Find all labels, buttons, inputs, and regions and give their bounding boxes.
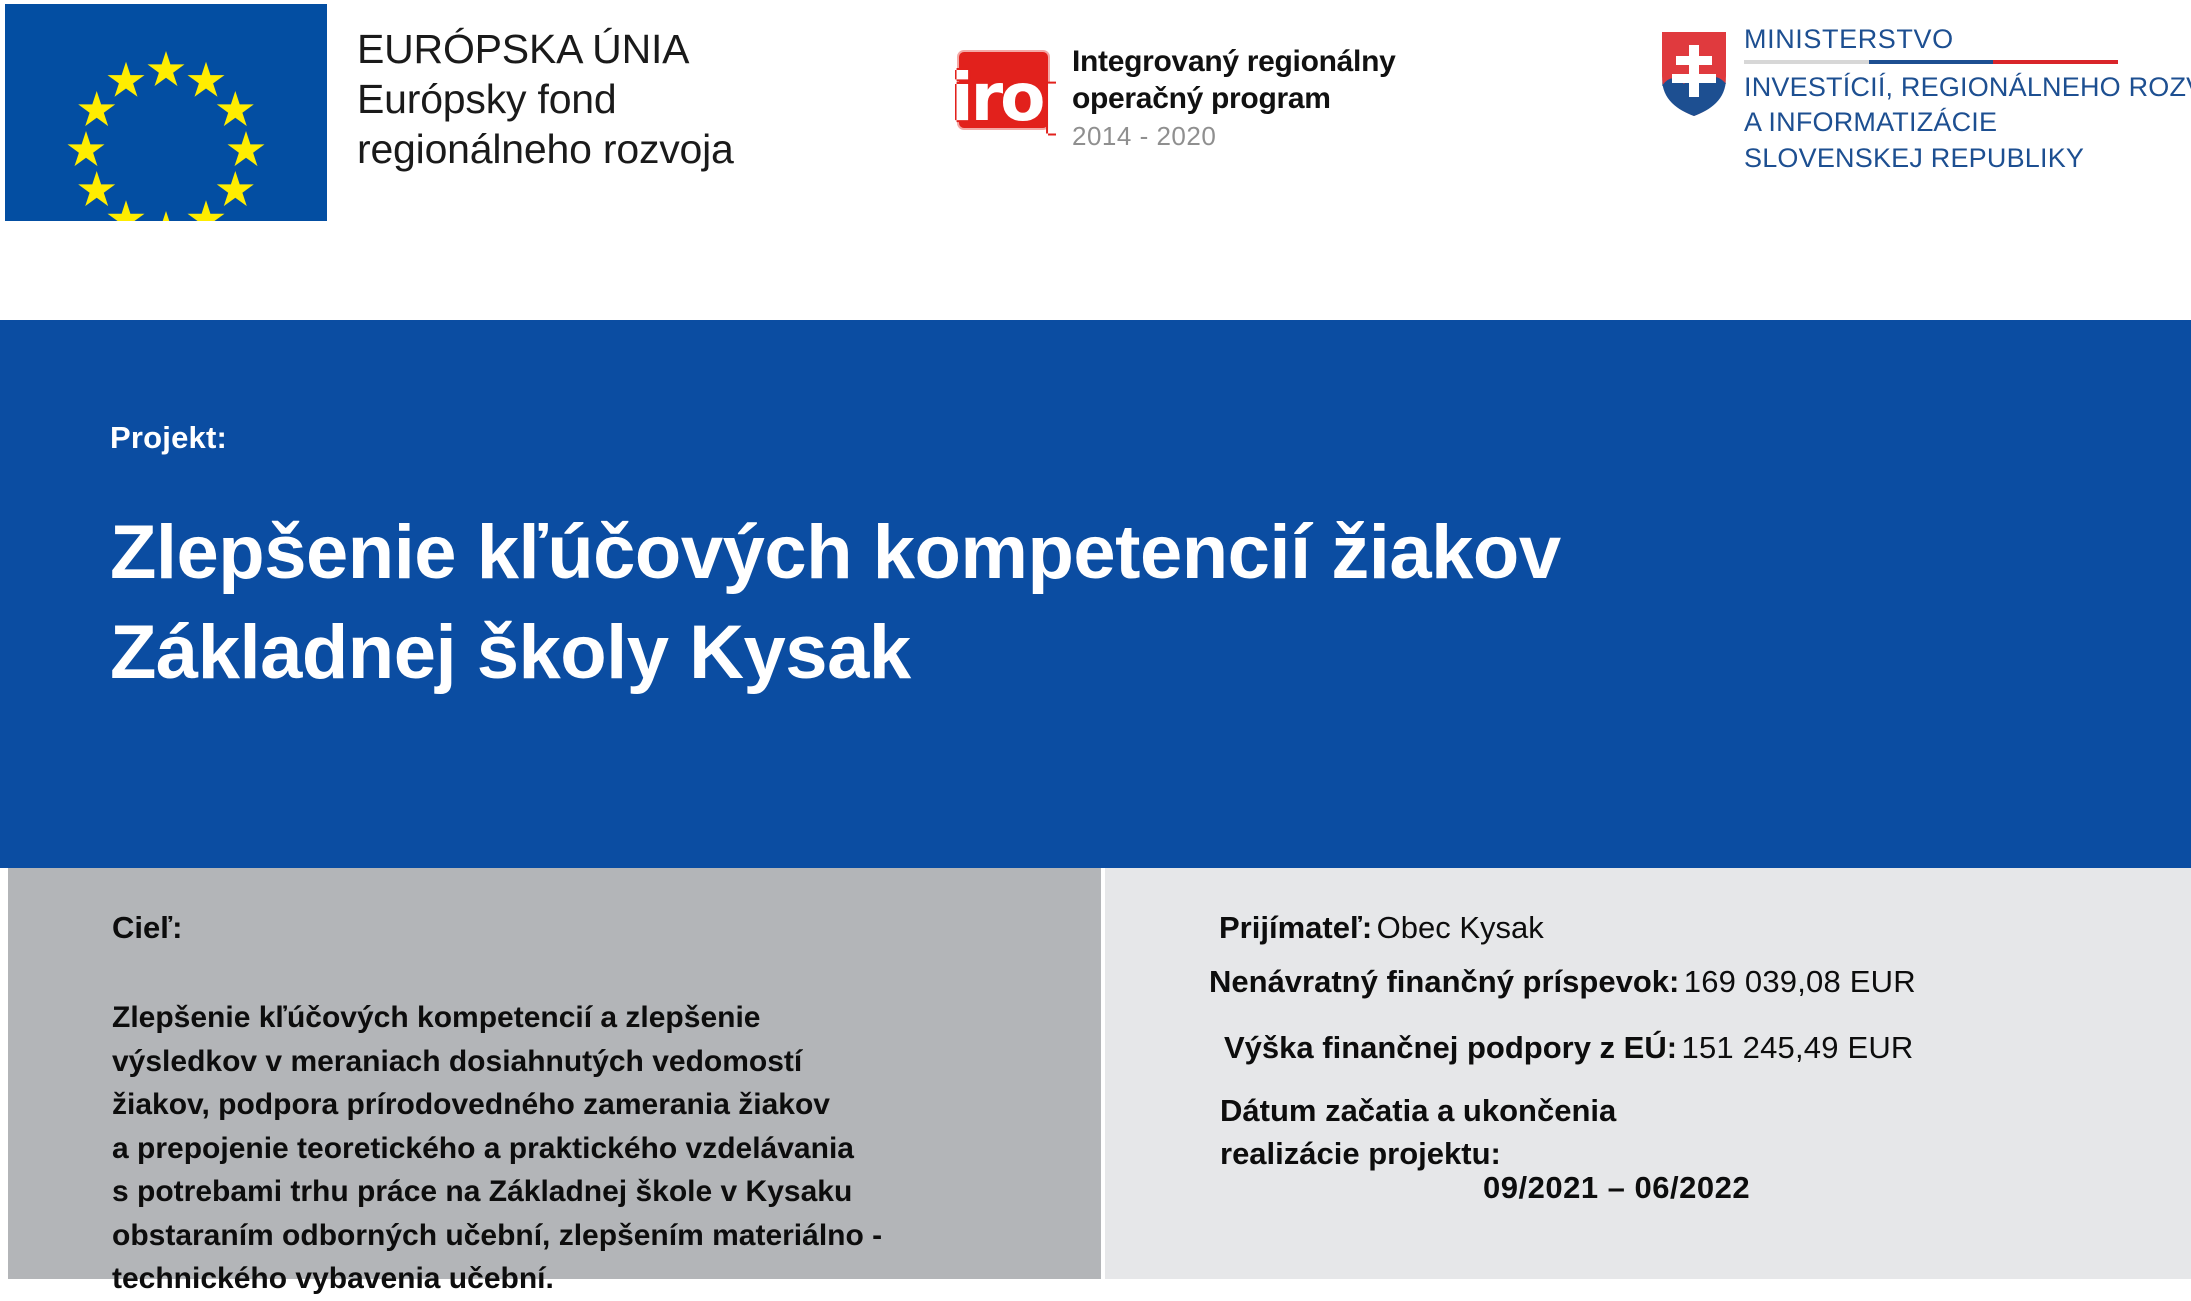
ministry-text-line3: A INFORMATIZÁCIE [1744,105,2191,140]
project-banner: Projekt: Zlepšenie kľúčových kompetencií… [0,320,2191,868]
ministry-text-line2: INVESTÍCIÍ, REGIONÁLNEHO ROZVOJA [1744,70,2191,105]
eu-text-line2: Európsky fond [357,74,734,124]
project-title-line1: Zlepšenie kľúčových kompetencií žiakov [110,503,2110,603]
eu-support-label: Výška finančnej podpory z EÚ: [1224,1030,1677,1065]
irop-logo-text: Integrovaný regionálny operačný program … [1072,44,1395,152]
eu-logo-text: EURÓPSKA ÚNIA Európsky fond regionálneho… [357,24,734,174]
slovak-coat-of-arms-icon [1660,30,1728,118]
goal-text-line: výsledkov v meraniach dosiahnutých vedom… [112,1040,1072,1084]
beneficiary-label: Prijímateľ: [1219,910,1372,945]
eu-text-line3: regionálneho rozvoja [357,124,734,174]
beneficiary-value: Obec Kysak [1377,910,1544,945]
irop-text-line1: Integrovaný regionálny [1072,44,1395,81]
rule-white-segment [1744,60,1869,64]
goal-text-line: žiakov, podpora prírodovedného zamerania… [112,1083,1072,1127]
eu-logo-block: EURÓPSKA ÚNIA Európsky fond regionálneho… [0,0,734,221]
goal-text: Zlepšenie kľúčových kompetencií a zlepše… [112,996,1072,1301]
irop-programme-years: 2014 - 2020 [1072,120,1395,153]
eu-flag-icon [5,4,327,221]
ministry-logo-text: MINISTERSTVO INVESTÍCIÍ, REGIONÁLNEHO RO… [1744,24,2191,176]
project-title-line2: Základnej školy Kysak [110,603,2110,703]
irop-wordmark: irop [955,65,1056,131]
dates-value-row: 09/2021 – 06/2022 [1483,1170,1750,1206]
beneficiary-row: Prijímateľ: Obec Kysak [1219,910,1544,946]
goal-label: Cieľ: [112,910,183,946]
goal-text-line: a prepojenie teoretického a praktického … [112,1127,1072,1171]
ministry-logo-block: MINISTERSTVO INVESTÍCIÍ, REGIONÁLNEHO RO… [1660,24,2191,176]
page-title: Zlepšenie kľúčových kompetencií žiakov Z… [110,503,2110,704]
irop-text-line2: operačný program [1072,81,1395,118]
project-label: Projekt: [110,420,227,456]
ministry-tricolor-rule [1744,60,2118,64]
irop-logo-block: irop Integrovaný regionálny operačný pro… [955,48,1395,152]
eu-stars-icon [5,4,327,221]
eu-support-row: Výška finančnej podpory z EÚ: 151 245,49… [1224,1030,1914,1066]
eu-support-value: 151 245,49 EUR [1682,1030,1914,1065]
grant-row: Nenávratný finančný príspevok: 169 039,0… [1209,964,1916,1000]
goal-text-line: obstaraním odborných učební, zlepšením m… [112,1214,1072,1258]
dates-value: 09/2021 – 06/2022 [1483,1170,1750,1205]
logo-header-strip: EURÓPSKA ÚNIA Európsky fond regionálneho… [0,0,2191,320]
rule-blue-segment [1869,60,1994,64]
eu-text-line1: EURÓPSKA ÚNIA [357,24,734,74]
dates-label-row: Dátum začatia a ukončenia realizácie pro… [1220,1090,1616,1176]
rule-red-segment [1993,60,2118,64]
details-panels: Cieľ: Zlepšenie kľúčových kompetencií a … [0,868,2191,1279]
project-info-panel: Prijímateľ: Obec Kysak Nenávratný finanč… [1105,868,2191,1279]
goal-panel: Cieľ: Zlepšenie kľúčových kompetencií a … [8,868,1101,1279]
grant-value: 169 039,08 EUR [1684,964,1916,999]
goal-text-line: Zlepšenie kľúčových kompetencií a zlepše… [112,996,1072,1040]
goal-text-line: s potrebami trhu práce na Základnej škol… [112,1170,1072,1214]
ministry-text-line1: MINISTERSTVO [1744,24,2191,55]
ministry-text-line4: SLOVENSKEJ REPUBLIKY [1744,141,2191,176]
grant-label: Nenávratný finančný príspevok: [1209,964,1679,999]
dates-label-line1: Dátum začatia a ukončenia [1220,1090,1616,1133]
irop-logo-icon: irop [955,48,1056,136]
